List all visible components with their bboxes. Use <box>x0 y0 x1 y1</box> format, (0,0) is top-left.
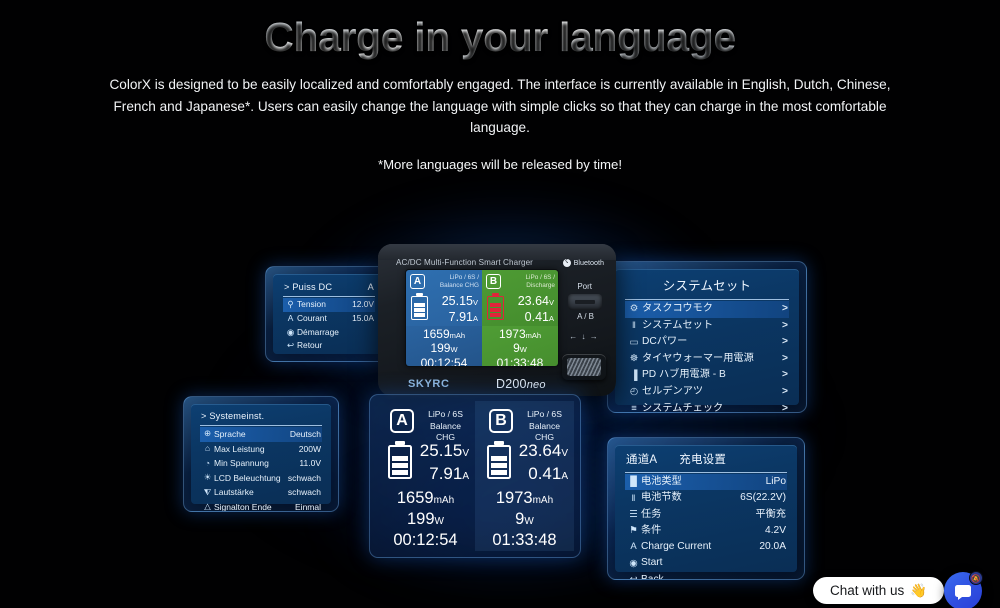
chevron-right-icon: > <box>776 402 788 413</box>
chevron-right-icon: > <box>776 368 788 383</box>
japanese-row-label: DCパワー <box>642 335 776 350</box>
german-row-min-spannung[interactable]: ◔ Min Spannung 11.0V <box>200 456 322 471</box>
chinese-row-value: 平衡充 <box>749 508 786 522</box>
start-icon: ◉ <box>284 327 297 339</box>
chinese-menu-panel[interactable]: 通道A 充电设置 ▐▌ 电池类型 LiPo ‖ 电池节数 6S(22.2V) ☰… <box>607 437 805 580</box>
channel-a-measurements: 25.15V 7.91A <box>442 294 478 326</box>
channel-b-voltage-unit: V <box>549 298 554 307</box>
brightness-icon: ☀ <box>201 472 214 484</box>
voltage-min-icon: ◔ <box>201 458 214 470</box>
bluetooth-indicator: ☇ Bluetooth <box>563 258 604 267</box>
channel-b-badge: B <box>486 274 501 289</box>
current-icon: A <box>284 313 297 325</box>
preview-channel-a-voltage: 25.15 <box>420 441 463 460</box>
french-row-retour[interactable]: ↩ Retour <box>283 339 375 353</box>
japanese-menu-divider <box>625 299 789 300</box>
chinese-row-start[interactable]: ◉ Start <box>625 555 787 571</box>
preview-channel-a-power-unit: W <box>435 516 444 527</box>
device-brand: SKYRC <box>408 378 450 390</box>
german-row-value: 11.0V <box>293 457 321 470</box>
channel-b-meta: LiPo / 6S / Discharge <box>526 274 556 290</box>
japanese-menu-panel[interactable]: システムセット ⚙ タスクコウモク > ‖ システムセット > ▭ DCパワー … <box>607 261 807 413</box>
chevron-right-icon: > <box>776 335 788 350</box>
device-channel-a-top: A LiPo / 6S / Balance CHG 25.15V 7.91A <box>406 270 482 326</box>
back-icon: ↩ <box>284 340 297 352</box>
channel-a-voltage-unit: V <box>473 298 478 307</box>
preview-channel-b-current: 0.41 <box>528 464 561 483</box>
chinese-row-value: 4.2V <box>759 524 786 538</box>
japanese-menu-inner: システムセット ⚙ タスクコウモク > ‖ システムセット > ▭ DCパワー … <box>615 269 799 405</box>
preview-channel-a-stats: 1659mAh 199W 00:12:54 <box>376 485 475 551</box>
channel-b-time: 01:33:48 <box>497 356 544 366</box>
channel-a-meta: LiPo / 6S / Balance CHG <box>440 274 479 290</box>
device-caption: AC/DC Multi-Function Smart Charger <box>396 258 533 267</box>
french-row-label: Tension <box>297 299 346 311</box>
french-row-value: 15.0A <box>346 313 374 325</box>
japanese-row-label: タイヤウォーマー用電源 <box>642 352 776 367</box>
chinese-menu-inner: 通道A 充电设置 ▐▌ 电池类型 LiPo ‖ 电池节数 6S(22.2V) ☰… <box>615 445 797 572</box>
preview-channel-a-voltage-unit: V <box>462 448 469 459</box>
german-row-signalton-ende[interactable]: △ Signalton Ende Einmal <box>200 500 322 512</box>
japanese-row-label: セルデンアツ <box>642 385 776 400</box>
globe-icon: ⊕ <box>201 428 214 440</box>
french-menu-title-value: A <box>368 282 374 292</box>
preview-channel-a-chem: LiPo / 6S <box>420 409 471 421</box>
channel-a-power: 199 <box>430 341 450 355</box>
french-row-label: Courant <box>297 313 346 325</box>
preview-channel-b-badge: B <box>489 409 513 433</box>
japanese-row-dc-power[interactable]: ▭ DCパワー > <box>625 334 789 351</box>
intro-paragraph: ColorX is designed to be easily localize… <box>100 74 900 139</box>
charger-device: AC/DC Multi-Function Smart Charger ☇ Blu… <box>378 244 616 396</box>
french-row-demarrage[interactable]: ◉ Démarrage <box>283 326 375 340</box>
volume-icon: ⧨ <box>201 487 214 499</box>
german-row-value: 200W <box>293 443 321 456</box>
power-max-icon: ⌂ <box>201 443 214 455</box>
chinese-row-battery-type[interactable]: ▐▌ 电池类型 LiPo <box>625 474 787 490</box>
french-menu-inner: > Puiss DC A ⚲ Tension 12.0V A Courant 1… <box>273 274 385 354</box>
system-check-icon: ≡ <box>626 403 642 413</box>
french-row-value: 12.0V <box>346 299 374 311</box>
chinese-row-value: LiPo <box>760 475 786 489</box>
preview-channel-a-meta: LiPo / 6S Balance CHG <box>420 409 471 444</box>
chinese-menu-channel: 通道A <box>626 451 657 467</box>
pd-hub-icon: ▐ <box>626 370 642 382</box>
port-label: Port <box>577 282 592 291</box>
preview-channel-a-power: 199 <box>407 510 435 528</box>
condition-icon: ⚑ <box>626 525 641 537</box>
chinese-menu-title: 充电设置 <box>679 451 726 467</box>
chinese-row-label: Back <box>641 573 780 580</box>
german-row-label: Min Spannung <box>214 457 293 470</box>
preview-channel-b-current-unit: A <box>561 471 568 482</box>
device-model: D200neo <box>496 377 546 391</box>
device-channel-a-stats: 1659mAh 199W 00:12:54 <box>406 326 482 366</box>
chat-with-us-pill[interactable]: Chat with us 👋 <box>813 577 944 604</box>
channel-b-capacity: 1973 <box>499 327 526 341</box>
german-menu-inner: > Systemeinst. ⊕ Sprache Deutsch ⌂ Max L… <box>191 404 331 504</box>
channel-a-voltage: 25.15 <box>442 294 473 308</box>
channel-a-capacity: 1659 <box>423 327 450 341</box>
preview-channel-b-voltage: 23.64 <box>519 441 562 460</box>
channel-a-badge: A <box>410 274 425 289</box>
german-row-label: Max Leistung <box>214 443 293 456</box>
channel-b-chem: LiPo / 6S / <box>526 274 556 282</box>
current-icon: A <box>626 541 641 553</box>
japanese-row-label: システムチェック <box>642 402 776 413</box>
task-list-icon: ☰ <box>626 509 641 521</box>
german-menu-title: > Systemeinst. <box>201 411 264 421</box>
channel-b-capacity-unit: mAh <box>526 331 541 340</box>
preview-channel-b-capacity-unit: mAh <box>533 495 554 506</box>
japanese-menu-title: システムセット <box>663 275 752 294</box>
device-channel-b-stats: 1973mAh 9W 01:33:48 <box>482 326 558 366</box>
japanese-menu-header: システムセット <box>625 275 789 299</box>
japanese-row-pd-hub[interactable]: ▐ PD ハブ用電源 - B > <box>625 367 789 384</box>
german-row-value: Einmal <box>289 501 321 512</box>
chinese-row-label: 条件 <box>641 524 759 538</box>
preview-channel-a-capacity: 1659 <box>397 489 434 507</box>
preview-channel-b-measurements: 23.64V 0.41A <box>519 441 568 486</box>
knob-knurl <box>567 358 601 376</box>
japanese-row-system-check[interactable]: ≡ システムチェック > <box>625 401 789 413</box>
knob-direction-icon: ← ↓ → <box>564 332 604 342</box>
chinese-row-label: 任务 <box>641 508 749 522</box>
chinese-row-label: 电池类型 <box>641 475 760 489</box>
chinese-menu-header: 通道A 充电设置 <box>625 451 787 472</box>
german-row-max-leistung[interactable]: ⌂ Max Leistung 200W <box>200 442 322 457</box>
channel-a-power-unit: W <box>450 345 457 354</box>
preview-channel-b-capacity: 1973 <box>496 489 533 507</box>
notification-muted-badge: 🔕 <box>969 571 983 585</box>
bell-icon: △ <box>201 501 214 512</box>
channel-b-battery-icon <box>487 293 504 320</box>
japanese-row-label: システムセット <box>642 319 776 334</box>
japanese-row-label: PD ハブ用電源 - B <box>642 368 776 383</box>
chevron-right-icon: > <box>776 319 788 334</box>
preview-channel-a-top: A LiPo / 6S Balance CHG 25.15V 7.91A <box>376 401 475 485</box>
preview-channel-a-capacity-unit: mAh <box>434 495 455 506</box>
preview-channel-b-meta: LiPo / 6S Balance CHG <box>519 409 570 444</box>
battery-type-icon: ▐▌ <box>626 476 641 488</box>
french-row-label: Démarrage <box>297 327 368 339</box>
channel-b-voltage: 23.64 <box>518 294 549 308</box>
preview-channel-a-current: 7.91 <box>429 464 462 483</box>
german-menu-header: > Systemeinst. <box>200 411 322 425</box>
page-root: Charge in your language ColorX is design… <box>0 0 1000 608</box>
dc-power-icon: ▭ <box>626 337 642 349</box>
chevron-right-icon: > <box>776 302 788 317</box>
french-menu-header: > Puiss DC A <box>283 282 375 296</box>
preview-channel-b-time: 01:33:48 <box>492 531 556 549</box>
preview-channel-a-measurements: 25.15V 7.91A <box>420 441 469 486</box>
german-row-lcd-beleuchtung[interactable]: ☀ LCD Beleuchtung schwach <box>200 471 322 486</box>
back-icon: ↩ <box>626 574 641 580</box>
german-row-lautstaerke[interactable]: ⧨ Lautstärke schwach <box>200 485 322 500</box>
preview-channel-a-time: 00:12:54 <box>393 531 457 549</box>
channel-a-chem: LiPo / 6S / <box>440 274 479 282</box>
cell-voltage-icon: ◴ <box>626 386 642 398</box>
german-row-value: schwach <box>282 486 321 499</box>
channel-a-time: 00:12:54 <box>421 356 468 366</box>
chinese-row-condition[interactable]: ⚑ 条件 4.2V <box>625 523 787 539</box>
japanese-row-task[interactable]: ⚙ タスクコウモク > <box>625 301 789 318</box>
channel-b-current: 0.41 <box>525 310 549 324</box>
french-row-label: Retour <box>297 340 368 352</box>
german-row-label: Signalton Ende <box>214 501 289 512</box>
preview-channel-b-power-unit: W <box>524 516 533 527</box>
channel-b-power-unit: W <box>520 345 527 354</box>
footnote-text: *More languages will be released by time… <box>100 157 900 172</box>
channel-a-current: 7.91 <box>449 310 473 324</box>
channel-a-current-unit: A <box>473 314 478 323</box>
french-menu-panel[interactable]: > Puiss DC A ⚲ Tension 12.0V A Courant 1… <box>265 266 393 362</box>
german-row-sprache[interactable]: ⊕ Sprache Deutsch <box>200 427 322 442</box>
german-menu-panel[interactable]: > Systemeinst. ⊕ Sprache Deutsch ⌂ Max L… <box>183 396 339 512</box>
preview-channel-a-battery-icon <box>388 441 412 479</box>
port-ab-label: A / B <box>577 312 594 321</box>
task-icon: ⚙ <box>626 303 642 315</box>
channel-a-battery-icon <box>411 293 428 320</box>
chinese-row-label: Start <box>641 556 780 570</box>
german-row-label: LCD Beleuchtung <box>214 472 282 485</box>
french-row-tension[interactable]: ⚲ Tension 12.0V <box>283 298 375 312</box>
preview-channel-b-stats: 1973mAh 9W 01:33:48 <box>475 485 574 551</box>
waving-hand-icon: 👋 <box>910 583 927 599</box>
chinese-row-value: 20.0A <box>753 540 786 554</box>
preview-channel-b-top: B LiPo / 6S Balance CHG 23.64V 0.41A <box>475 401 574 485</box>
port-socket[interactable] <box>568 294 602 310</box>
chevron-right-icon: > <box>776 352 788 367</box>
chat-bubble-icon <box>955 585 971 597</box>
system-icon: ‖ <box>626 320 642 332</box>
chat-launcher-button[interactable]: 🔕 <box>944 572 982 608</box>
japanese-row-tire-warmer[interactable]: ☸ タイヤウォーマー用電源 > <box>625 351 789 368</box>
bluetooth-icon: ☇ <box>563 259 571 267</box>
channel-b-power: 9 <box>513 341 520 355</box>
chinese-row-label: Charge Current <box>641 540 753 554</box>
device-model-number: D200 <box>496 377 527 391</box>
chinese-row-cell-count[interactable]: ‖ 电池节数 6S(22.2V) <box>625 490 787 506</box>
channel-b-mode: Discharge <box>526 282 556 290</box>
chinese-menu-divider <box>625 472 787 473</box>
german-row-label: Lautstärke <box>214 486 282 499</box>
preview-channel-b-voltage-unit: V <box>561 448 568 459</box>
voltage-icon: ⚲ <box>284 299 297 311</box>
japanese-row-cell-voltage[interactable]: ◴ セルデンアツ > <box>625 384 789 401</box>
chinese-row-value: 6S(22.2V) <box>734 491 786 505</box>
chat-pill-label: Chat with us <box>830 583 904 598</box>
german-row-label: Sprache <box>214 428 284 441</box>
device-channel-b-top: B LiPo / 6S / Discharge 23.64V 0.41A <box>482 270 558 326</box>
preview-channel-b-battery-icon <box>487 441 511 479</box>
chinese-row-task[interactable]: ☰ 任务 平衡充 <box>625 507 787 523</box>
page-title: Charge in your language <box>0 14 1000 61</box>
chinese-row-charge-current[interactable]: A Charge Current 20.0A <box>625 539 787 555</box>
japanese-row-label: タスクコウモク <box>642 302 776 317</box>
preview-channel-a-badge: A <box>390 409 414 433</box>
chevron-right-icon: > <box>776 385 788 400</box>
german-row-value: schwach <box>282 472 321 485</box>
french-menu-title: > Puiss DC <box>284 282 332 292</box>
chinese-row-label: 电池节数 <box>641 491 734 505</box>
device-lcd-screen[interactable]: A LiPo / 6S / Balance CHG 25.15V 7.91A B <box>406 270 558 366</box>
german-row-value: Deutsch <box>284 428 321 441</box>
channel-a-capacity-unit: mAh <box>450 331 465 340</box>
channel-a-mode: Balance CHG <box>440 282 479 290</box>
japanese-row-system[interactable]: ‖ システムセット > <box>625 318 789 335</box>
german-menu-divider <box>200 425 322 426</box>
device-model-suffix: neo <box>527 379 546 391</box>
preview-channel-b-chem: LiPo / 6S <box>519 409 570 421</box>
channel-b-current-unit: A <box>549 314 554 323</box>
french-menu-divider <box>283 296 375 297</box>
tire-warmer-icon: ☸ <box>626 353 642 365</box>
french-row-courant[interactable]: A Courant 15.0A <box>283 312 375 326</box>
channel-b-measurements: 23.64V 0.41A <box>518 294 554 326</box>
enlarged-lcd-preview: A LiPo / 6S Balance CHG 25.15V 7.91A B L… <box>369 394 581 558</box>
chinese-row-back[interactable]: ↩ Back <box>625 572 787 580</box>
bluetooth-label: Bluetooth <box>574 258 604 267</box>
preview-channel-b-power: 9 <box>515 510 524 528</box>
cell-count-icon: ‖ <box>626 493 641 505</box>
rotary-knob[interactable] <box>562 354 606 380</box>
preview-channel-a-current-unit: A <box>462 471 469 482</box>
start-icon: ◉ <box>626 558 641 570</box>
